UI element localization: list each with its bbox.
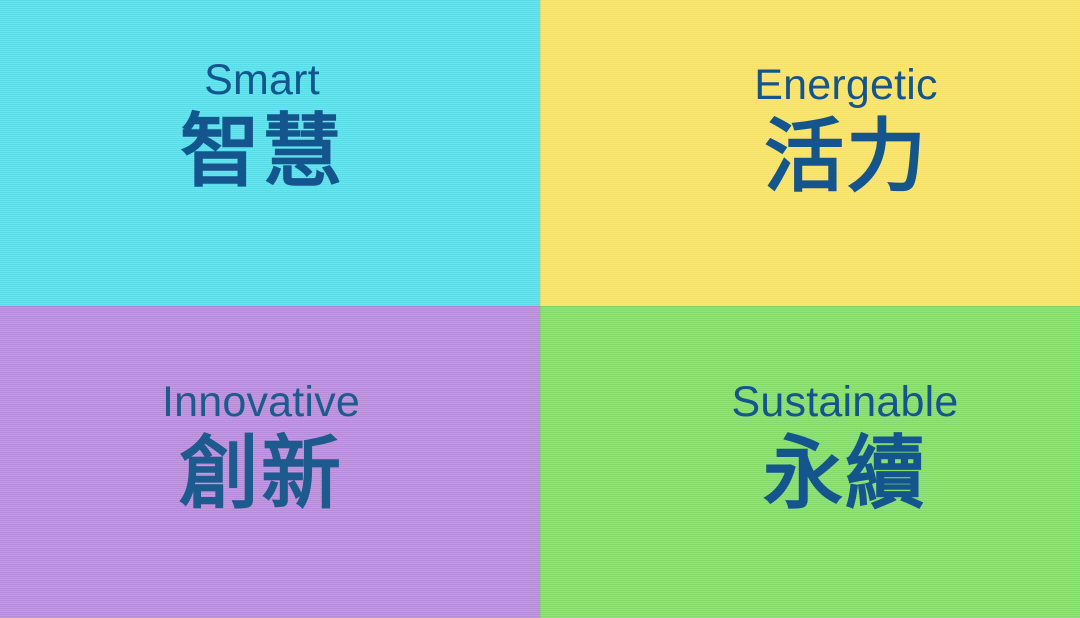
chinese-label-sustainable: 永續	[732, 432, 959, 517]
label-block-sustainable: Sustainable 永續	[732, 381, 959, 517]
english-label-innovative: Innovative	[162, 381, 360, 424]
quadrant-smart: Smart 智慧	[0, 0, 540, 306]
chinese-label-energetic: 活力	[754, 115, 937, 200]
label-block-innovative: Innovative 創新	[162, 381, 360, 517]
label-block-energetic: Energetic 活力	[754, 64, 937, 200]
quadrant-innovative: Innovative 創新	[0, 306, 540, 618]
chinese-label-innovative: 創新	[162, 432, 360, 517]
quadrant-sustainable: Sustainable 永續	[540, 306, 1080, 618]
chinese-label-smart: 智慧	[180, 110, 344, 195]
english-label-energetic: Energetic	[754, 64, 937, 107]
english-label-sustainable: Sustainable	[732, 381, 959, 424]
quadrant-energetic: Energetic 活力	[540, 0, 1080, 306]
brand-values-grid: Smart 智慧 Energetic 活力 Innovative 創新 Sust…	[0, 0, 1080, 618]
english-label-smart: Smart	[180, 59, 344, 102]
label-block-smart: Smart 智慧	[180, 59, 344, 195]
